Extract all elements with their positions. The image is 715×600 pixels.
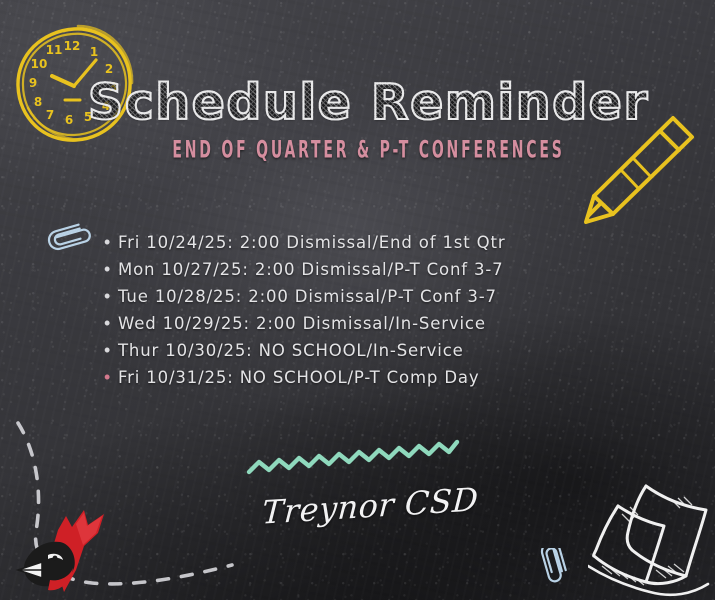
list-bullet: • — [104, 287, 118, 305]
list-item: • Thur 10/30/25: NO SCHOOL/In-Service — [104, 341, 505, 367]
page-subtitle: End of Quarter & P-T Conferences — [84, 136, 652, 164]
paperclip-icon — [46, 222, 98, 259]
list-bullet: • — [104, 260, 118, 278]
list-item-label: Tue 10/28/25: 2:00 Dismissal/P-T Conf 3-… — [118, 287, 497, 306]
paperclip-icon — [527, 548, 575, 589]
cardinal-mascot-logo — [14, 500, 122, 600]
list-bullet: • — [104, 233, 118, 251]
chalkboard-poster: 12 1 2 3 4 5 6 7 8 9 10 11 — [0, 0, 715, 600]
list-item: • Tue 10/28/25: 2:00 Dismissal/P-T Conf … — [104, 287, 505, 313]
list-item-label: Fri 10/31/25: NO SCHOOL/P-T Comp Day — [118, 368, 479, 387]
svg-text:11: 11 — [46, 43, 63, 57]
list-item: • Mon 10/27/25: 2:00 Dismissal/P-T Conf … — [104, 260, 505, 286]
signature-text: Treynor CSD — [261, 480, 479, 531]
list-item: • Wed 10/29/25: 2:00 Dismissal/In-Servic… — [104, 314, 505, 340]
zigzag-line-icon — [245, 432, 461, 485]
list-bullet: • — [104, 341, 118, 359]
svg-text:12: 12 — [64, 39, 81, 53]
open-book-icon — [588, 470, 715, 600]
list-item-label: Thur 10/30/25: NO SCHOOL/In-Service — [118, 341, 464, 360]
list-item: • Fri 10/24/25: 2:00 Dismissal/End of 1s… — [104, 233, 505, 259]
svg-text:1: 1 — [90, 45, 98, 59]
svg-text:10: 10 — [31, 57, 48, 71]
list-item-label: Mon 10/27/25: 2:00 Dismissal/P-T Conf 3-… — [118, 260, 504, 279]
list-item-label: Fri 10/24/25: 2:00 Dismissal/End of 1st … — [118, 233, 505, 252]
list-bullet: • — [104, 368, 118, 386]
list-item: • Fri 10/31/25: NO SCHOOL/P-T Comp Day — [104, 368, 505, 394]
list-bullet: • — [104, 314, 118, 332]
page-title: Schedule Reminder — [88, 78, 649, 127]
schedule-list: • Fri 10/24/25: 2:00 Dismissal/End of 1s… — [104, 233, 505, 395]
list-item-label: Wed 10/29/25: 2:00 Dismissal/In-Service — [118, 314, 486, 333]
title-block: Schedule Reminder End of Quarter & P-T C… — [0, 78, 715, 161]
